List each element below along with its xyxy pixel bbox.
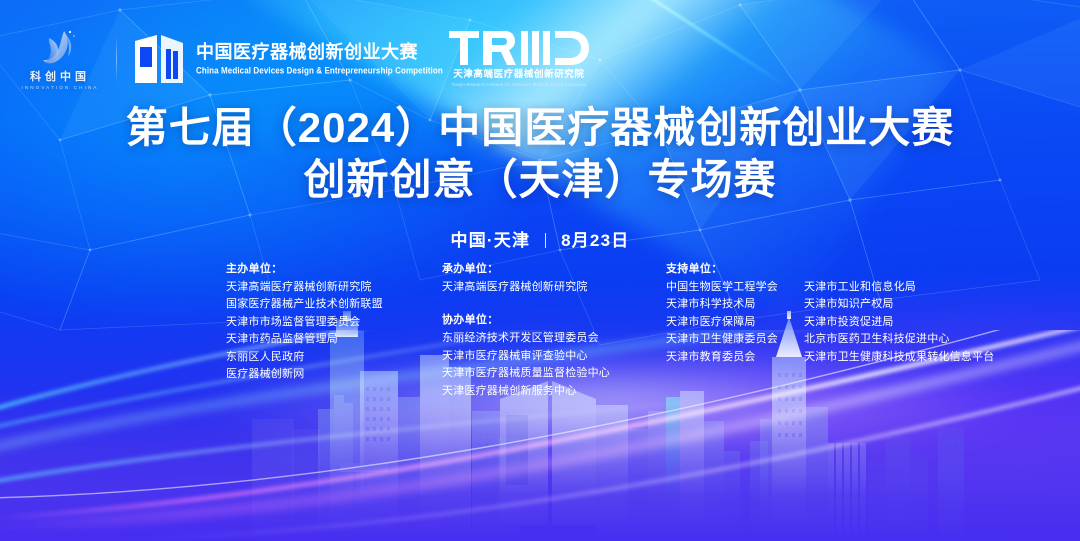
kczg-cn-label: 科创中国 xyxy=(30,72,90,83)
supporters-column: 支持单位： 中国生物医学工程学会 天津市科学技术局 天津市医疗保障局 天津市卫生… xyxy=(666,261,994,366)
phoenix-mark-icon xyxy=(36,29,84,69)
supporter-sublist-left: 中国生物医学工程学会 天津市科学技术局 天津市医疗保障局 天津市卫生健康委员会 … xyxy=(666,279,778,366)
list-item: 天津市市场监督管理委员会 xyxy=(226,314,402,331)
logo-bar: 科创中国 INNOVATION CHINA 中国医疗器械创新创业大赛 China… xyxy=(18,26,589,92)
list-item: 天津市投资促进局 xyxy=(804,314,994,331)
list-item: 中国生物医学工程学会 xyxy=(666,279,778,296)
supporter-group: 支持单位： 中国生物医学工程学会 天津市科学技术局 天津市医疗保障局 天津市卫生… xyxy=(666,261,994,366)
logo-innovation-china: 科创中国 INNOVATION CHINA xyxy=(18,26,102,92)
kczg-en-label: INNOVATION CHINA xyxy=(21,86,98,91)
title-line-1: 第七届（2024）中国医疗器械创新创业大赛 xyxy=(0,104,1080,152)
triid-wordmark-icon xyxy=(449,31,589,65)
list-item: 天津市药品监督管理局 xyxy=(226,331,402,348)
event-poster-banner: 科创中国 INNOVATION CHINA 中国医疗器械创新创业大赛 China… xyxy=(0,0,1080,541)
logo-china-medical-devices-competition: 中国医疗器械创新创业大赛 China Medical Devices Desig… xyxy=(131,26,443,92)
open-book-door-mark-icon xyxy=(131,31,187,87)
list-item: 天津市工业和信息化局 xyxy=(804,279,994,296)
organizers-column: 主办单位： 天津高端医疗器械创新研究院 国家医疗器械产业技术创新联盟 天津市市场… xyxy=(226,261,402,383)
list-item: 天津市医疗器械质量监督检验中心 xyxy=(442,365,626,382)
subtitle-location-date: 中国·天津 8月23日 xyxy=(0,226,1080,251)
list-item: 北京市医药卫生科技促进中心 xyxy=(804,331,994,348)
list-item: 东丽区人民政府 xyxy=(226,349,402,366)
list-item: 天津高端医疗器械创新研究院 xyxy=(442,279,626,296)
logo-triid: 天津高端医疗器械创新研究院 Tianjin Research Institute… xyxy=(449,26,589,92)
cmd-cn-label: 中国医疗器械创新创业大赛 xyxy=(196,42,443,63)
list-item: 国家医疗器械产业技术创新联盟 xyxy=(226,296,402,313)
logo-divider xyxy=(116,36,117,82)
list-item: 天津市教育委员会 xyxy=(666,349,778,366)
triid-cn-label: 天津高端医疗器械创新研究院 xyxy=(453,70,584,80)
list-item: 天津市科学技术局 xyxy=(666,296,778,313)
list-item: 天津市知识产权局 xyxy=(804,296,994,313)
triid-en-label: Tianjin Research Institute for Advanced … xyxy=(452,83,586,87)
subtitle-separator xyxy=(545,233,546,248)
host-heading: 承办单位： xyxy=(442,261,626,278)
organizations-block: 主办单位： 天津高端医疗器械创新研究院 国家医疗器械产业技术创新联盟 天津市市场… xyxy=(226,261,994,400)
list-item: 东丽经济技术开发区管理委员会 xyxy=(442,330,626,347)
title-line-2: 创新创意（天津）专场赛 xyxy=(0,156,1080,204)
list-item: 天津市医疗保障局 xyxy=(666,314,778,331)
coorganizer-group: 协办单位： 东丽经济技术开发区管理委员会 天津市医疗器械审评查验中心 天津市医疗… xyxy=(442,312,626,400)
list-item: 天津市卫生健康科技成果转化信息平台 xyxy=(804,349,994,366)
host-group: 承办单位： 天津高端医疗器械创新研究院 xyxy=(442,261,626,296)
host-coorganizer-column: 承办单位： 天津高端医疗器械创新研究院 协办单位： 东丽经济技术开发区管理委员会… xyxy=(442,261,626,400)
supporter-heading: 支持单位： xyxy=(666,261,994,278)
coorganizer-heading: 协办单位： xyxy=(442,312,626,329)
organizer-heading: 主办单位： xyxy=(226,261,402,278)
supporter-sublist-right: 天津市工业和信息化局 天津市知识产权局 天津市投资促进局 北京市医药卫生科技促进… xyxy=(804,279,994,366)
list-item: 天津医疗器械创新服务中心 xyxy=(442,383,626,400)
subtitle-date: 8月23日 xyxy=(561,231,629,250)
list-item: 天津高端医疗器械创新研究院 xyxy=(226,279,402,296)
page-title: 第七届（2024）中国医疗器械创新创业大赛 创新创意（天津）专场赛 xyxy=(0,104,1080,204)
subtitle-location: 中国·天津 xyxy=(451,231,531,250)
list-item: 医疗器械创新网 xyxy=(226,366,402,383)
list-item: 天津市卫生健康委员会 xyxy=(666,331,778,348)
organizer-group: 主办单位： 天津高端医疗器械创新研究院 国家医疗器械产业技术创新联盟 天津市市场… xyxy=(226,261,402,383)
cmd-en-label: China Medical Devices Design & Entrepren… xyxy=(196,65,443,77)
list-item: 天津市医疗器械审评查验中心 xyxy=(442,348,626,365)
